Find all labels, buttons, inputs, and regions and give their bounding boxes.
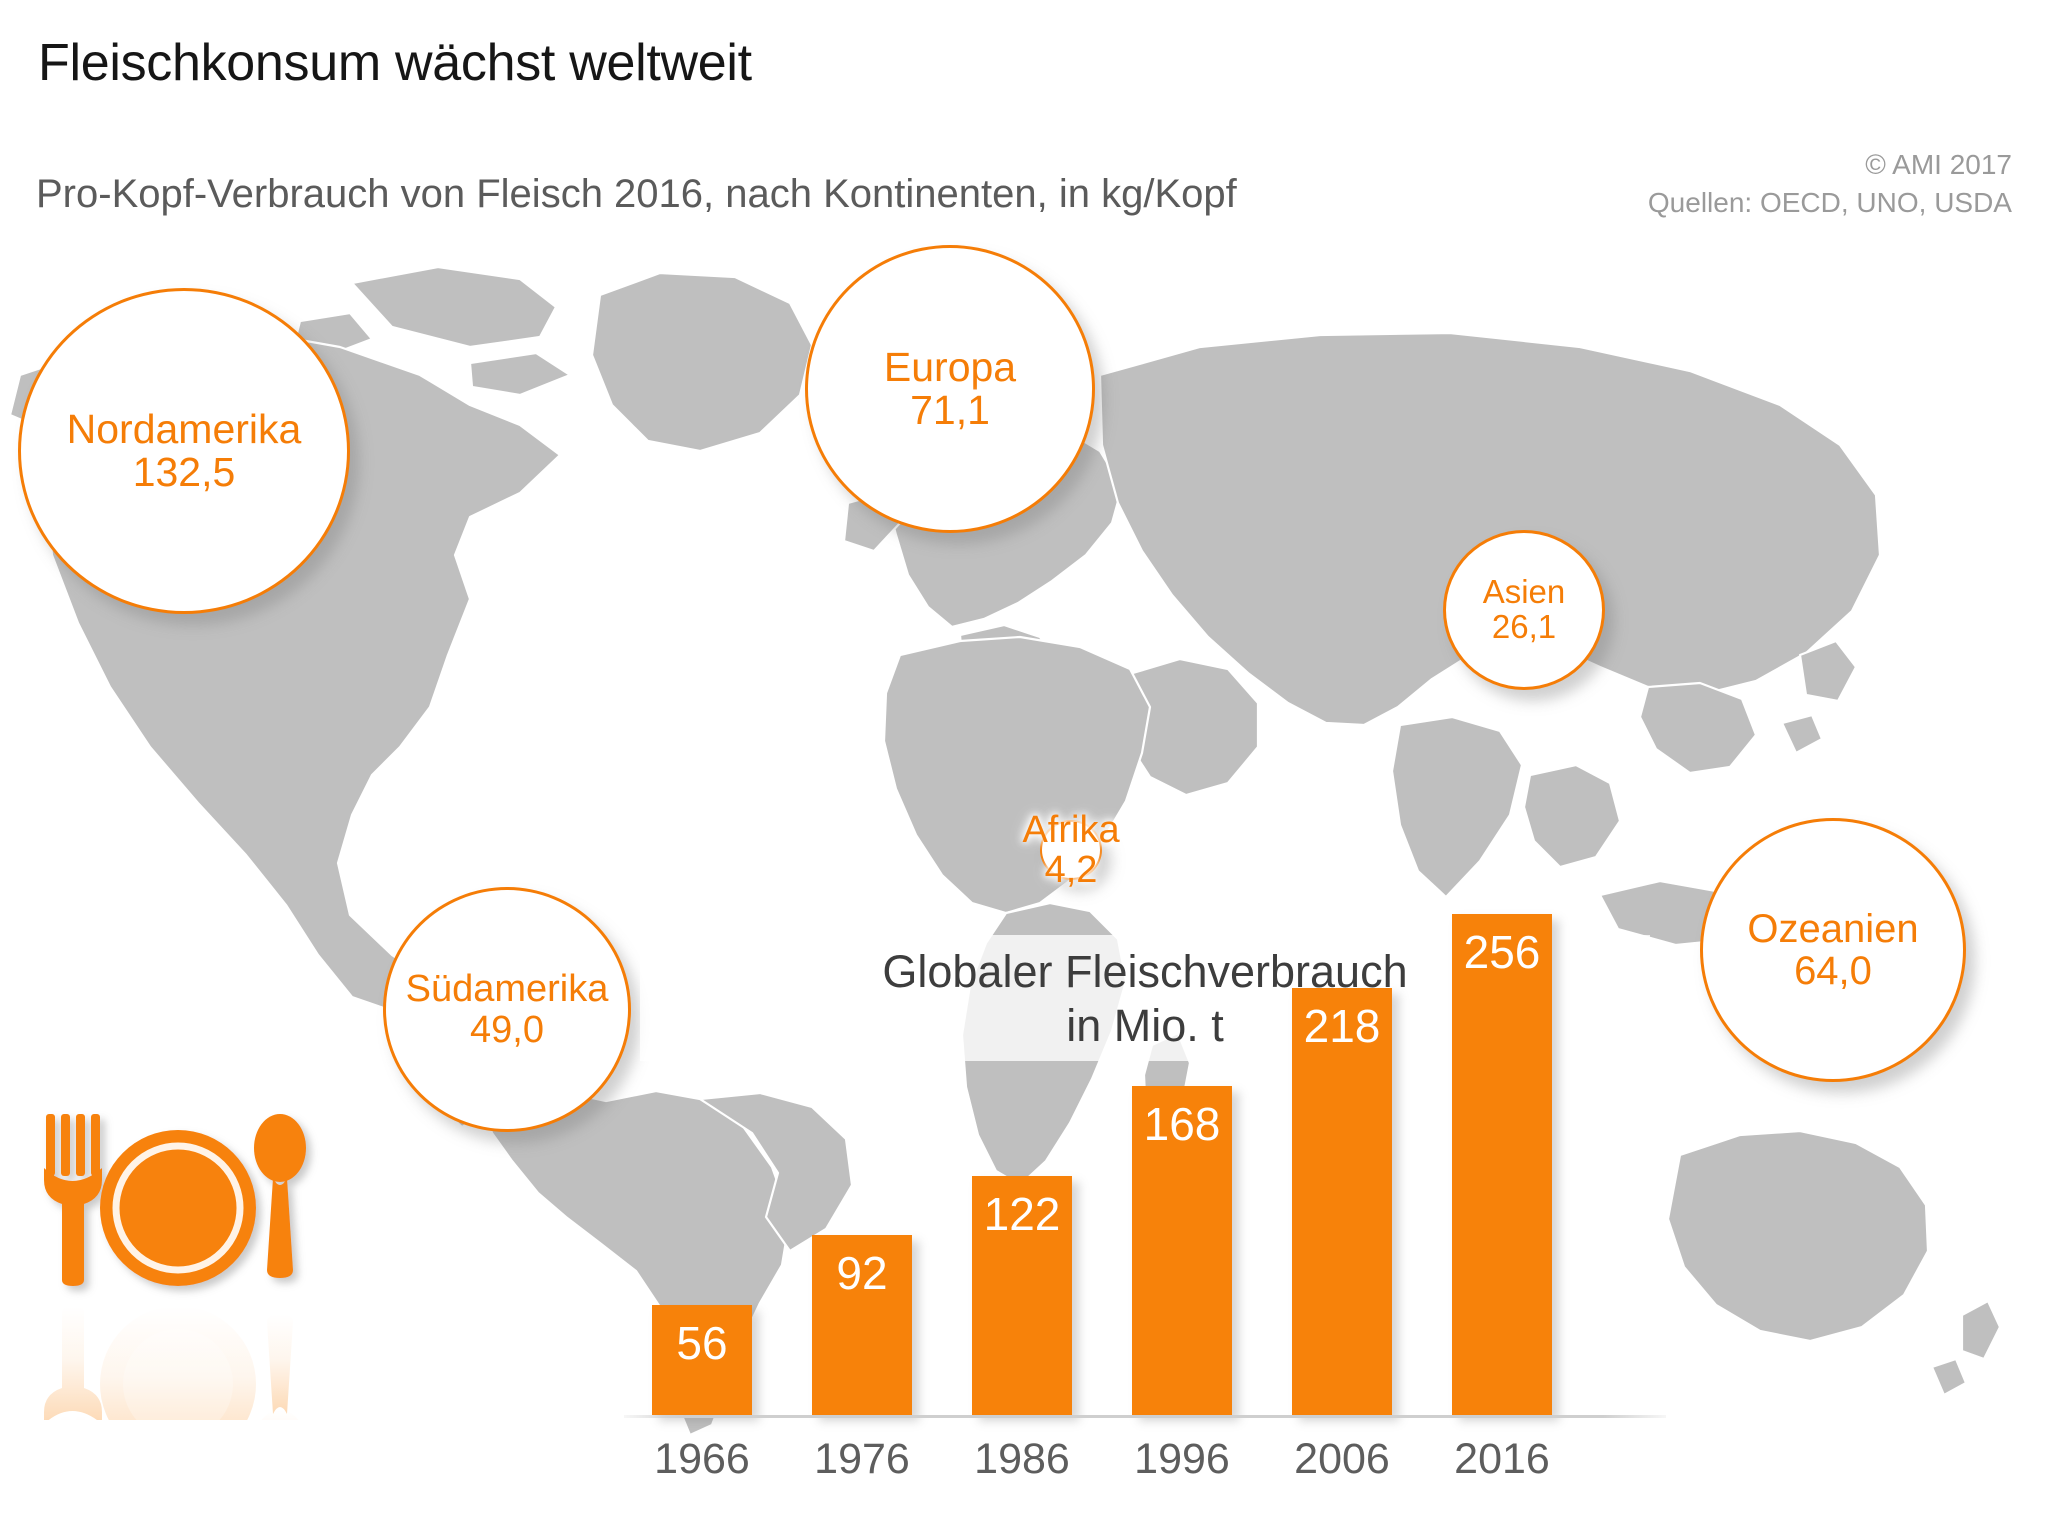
bar-value-label: 218 xyxy=(1292,1002,1392,1050)
x-tick-1996: 1996 xyxy=(1112,1433,1252,1485)
bar-1996[interactable]: 168 xyxy=(1132,1086,1232,1415)
bar-1986[interactable]: 122 xyxy=(972,1176,1072,1415)
bar-value-label: 168 xyxy=(1132,1100,1232,1148)
bubble-afrika[interactable]: Afrika 4,2 xyxy=(1040,820,1102,880)
bubble-value: 64,0 xyxy=(1794,950,1872,992)
bubble-value: 132,5 xyxy=(133,451,236,494)
bubble-asien[interactable]: Asien 26,1 xyxy=(1443,530,1605,690)
bubble-value: 26,1 xyxy=(1492,610,1556,645)
sources-text: Quellen: OECD, UNO, USDA xyxy=(1648,184,2012,222)
bubble-label: Südamerika xyxy=(406,969,609,1009)
bubble-label: Afrika xyxy=(1022,810,1119,850)
bar-value-label: 256 xyxy=(1452,928,1552,976)
page-title: Fleischkonsum wächst weltweit xyxy=(38,32,752,94)
chart-axis-line xyxy=(624,1415,1666,1418)
bar-value-label: 122 xyxy=(972,1190,1072,1238)
bubble-label: Europa xyxy=(884,346,1016,389)
x-tick-2006: 2006 xyxy=(1272,1433,1412,1485)
page-subtitle: Pro-Kopf-Verbrauch von Fleisch 2016, nac… xyxy=(36,170,1237,218)
bubble-label: Nordamerika xyxy=(67,408,302,451)
bar-chart: Globaler Fleischverbrauch in Mio. t 56 9… xyxy=(640,935,1650,1505)
bubble-value: 4,2 xyxy=(1045,850,1098,890)
bar-2006[interactable]: 218 xyxy=(1292,988,1392,1415)
bar-value-label: 92 xyxy=(812,1249,912,1297)
bubble-europa[interactable]: Europa 71,1 xyxy=(805,245,1095,533)
bubble-label: Ozeanien xyxy=(1747,908,1918,950)
fork-plate-spoon-icon xyxy=(18,1090,328,1420)
bubble-ozeanien[interactable]: Ozeanien 64,0 xyxy=(1700,818,1966,1082)
bar-1966[interactable]: 56 xyxy=(652,1305,752,1415)
x-tick-1986: 1986 xyxy=(952,1433,1092,1485)
credit-block: © AMI 2017 Quellen: OECD, UNO, USDA xyxy=(1648,146,2012,222)
bubble-value: 49,0 xyxy=(470,1010,544,1050)
bubble-value: 71,1 xyxy=(910,389,990,432)
x-tick-2016: 2016 xyxy=(1432,1433,1572,1485)
x-tick-1966: 1966 xyxy=(632,1433,772,1485)
infographic-canvas: Fleischkonsum wächst weltweit Pro-Kopf-V… xyxy=(0,0,2048,1518)
bar-1976[interactable]: 92 xyxy=(812,1235,912,1415)
bar-value-label: 56 xyxy=(652,1319,752,1367)
copyright-text: © AMI 2017 xyxy=(1648,146,2012,184)
bubble-suedamerika[interactable]: Südamerika 49,0 xyxy=(383,887,631,1132)
bubble-nordamerika[interactable]: Nordamerika 132,5 xyxy=(18,288,350,614)
bubble-label: Asien xyxy=(1483,575,1566,610)
chart-plot-area: 56 92 122 168 218 256 1966 1976 1986 199… xyxy=(640,935,1650,1415)
x-tick-1976: 1976 xyxy=(792,1433,932,1485)
bar-2016[interactable]: 256 xyxy=(1452,914,1552,1415)
